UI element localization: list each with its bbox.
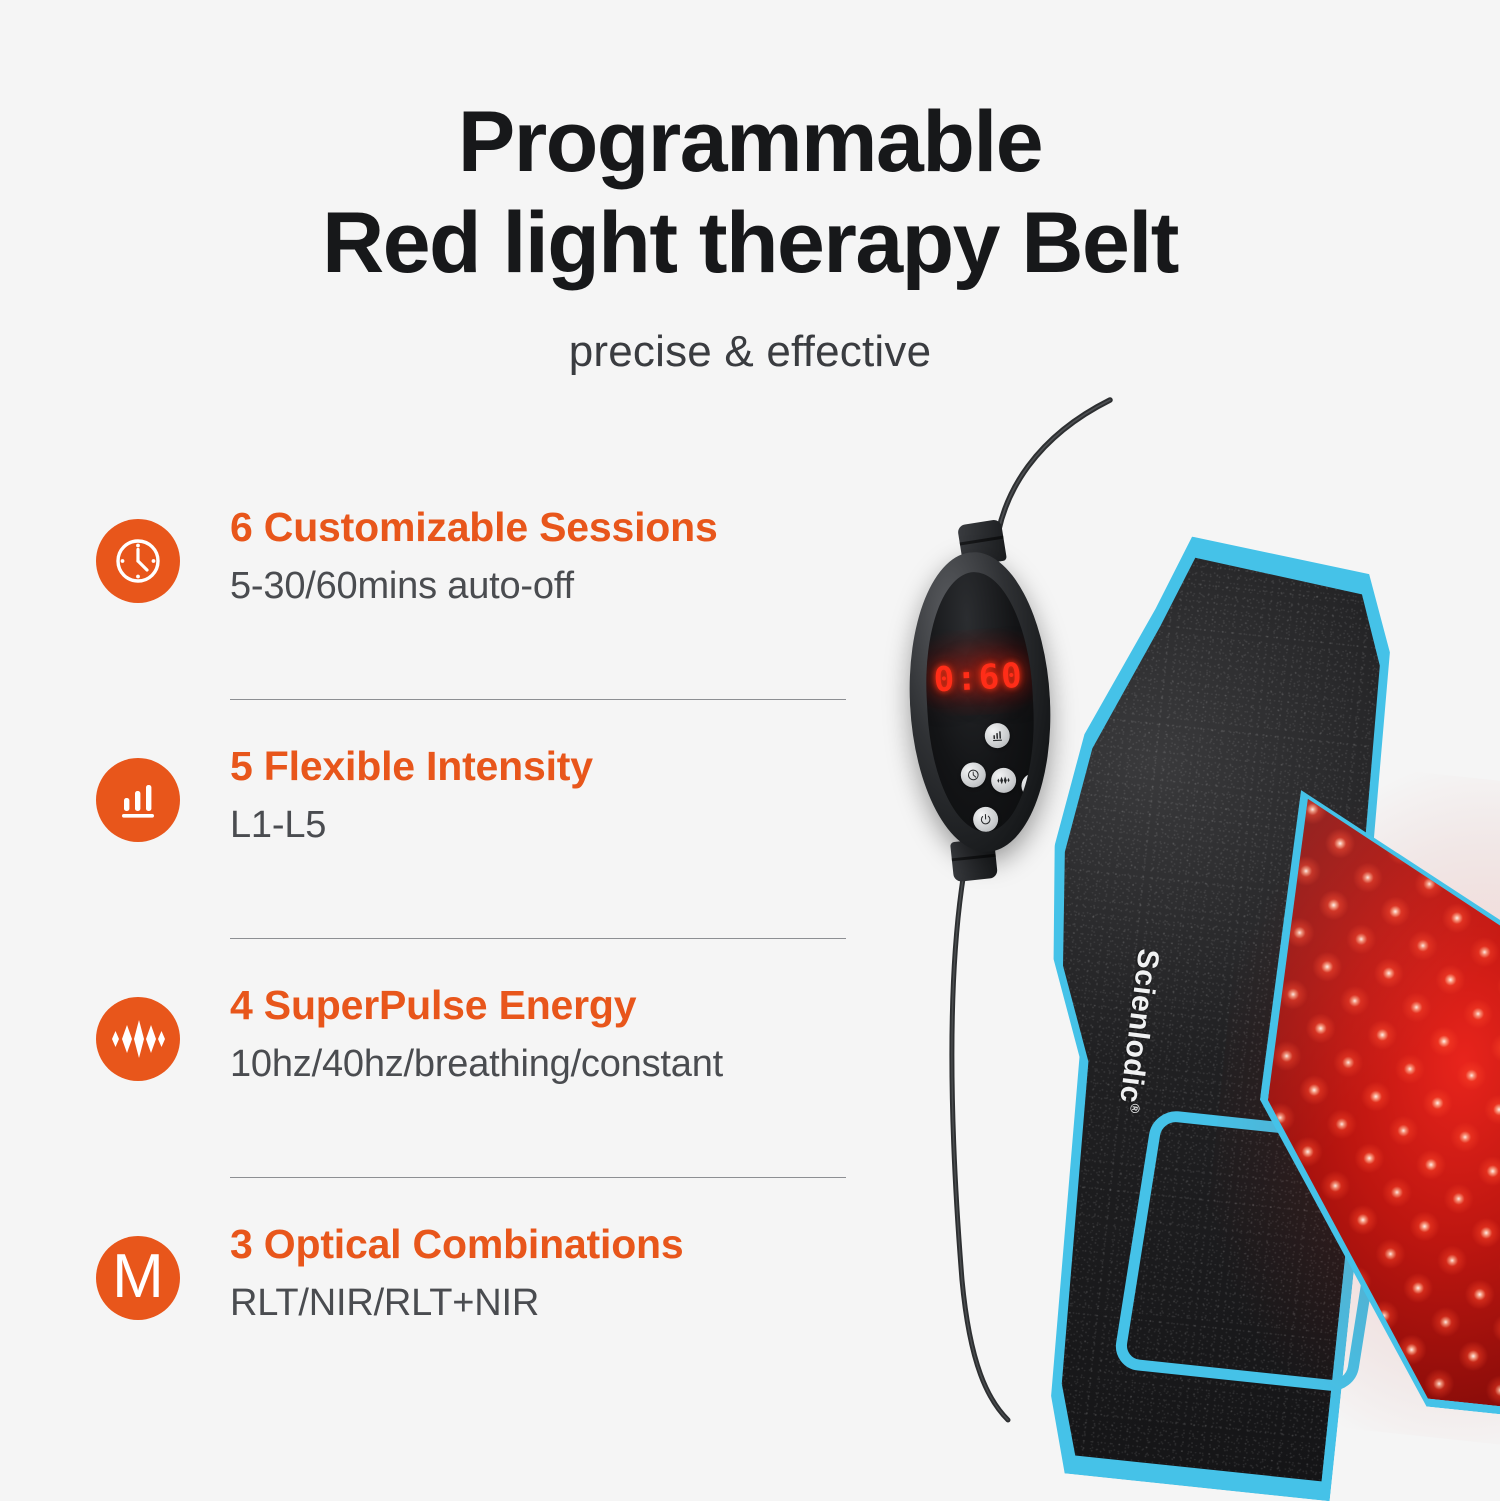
- feature-item-optical: M 3 Optical Combinations RLT/NIR/RLT+NIR: [96, 1222, 886, 1372]
- timer-button[interactable]: [960, 762, 986, 788]
- feature-subtitle: 5-30/60mins auto-off: [230, 565, 886, 609]
- feature-subtitle: 10hz/40hz/breathing/constant: [230, 1043, 886, 1087]
- mode-m-icon: M: [96, 1236, 180, 1320]
- intensity-bars-icon: [96, 758, 180, 842]
- feature-divider: [230, 699, 846, 700]
- timer-display: 0:60: [933, 656, 1025, 701]
- feature-divider: [230, 938, 846, 939]
- pulse-button[interactable]: [990, 767, 1016, 793]
- controller[interactable]: 0:60: [910, 552, 1050, 852]
- page-title-line-1: Programmable: [0, 92, 1500, 193]
- page-header: Programmable Red light therapy Belt prec…: [0, 0, 1500, 377]
- feature-subtitle: RLT/NIR/RLT+NIR: [230, 1282, 886, 1326]
- feature-item-sessions: 6 Customizable Sessions 5-30/60mins auto…: [96, 505, 886, 655]
- feature-title: 6 Customizable Sessions: [230, 505, 886, 551]
- feature-title: 3 Optical Combinations: [230, 1222, 886, 1268]
- clock-icon: [96, 519, 180, 603]
- feature-title: 5 Flexible Intensity: [230, 744, 886, 790]
- page-subtitle: precise & effective: [0, 327, 1500, 377]
- product-image: Scienlodic® 0:60: [880, 380, 1500, 1500]
- brand-registered-mark: ®: [1127, 1103, 1143, 1115]
- mode-m-glyph: M: [112, 1246, 164, 1308]
- feature-item-superpulse: 4 SuperPulse Energy 10hz/40hz/breathing/…: [96, 983, 886, 1133]
- feature-title: 4 SuperPulse Energy: [230, 983, 886, 1029]
- feature-list: 6 Customizable Sessions 5-30/60mins auto…: [96, 505, 886, 1372]
- feature-item-intensity: 5 Flexible Intensity L1-L5: [96, 744, 886, 894]
- page-title-line-2: Red light therapy Belt: [0, 193, 1500, 294]
- feature-divider: [230, 1177, 846, 1178]
- intensity-button[interactable]: [984, 723, 1010, 749]
- feature-subtitle: L1-L5: [230, 804, 886, 848]
- pulse-waveform-icon: [96, 997, 180, 1081]
- power-button[interactable]: [973, 806, 999, 832]
